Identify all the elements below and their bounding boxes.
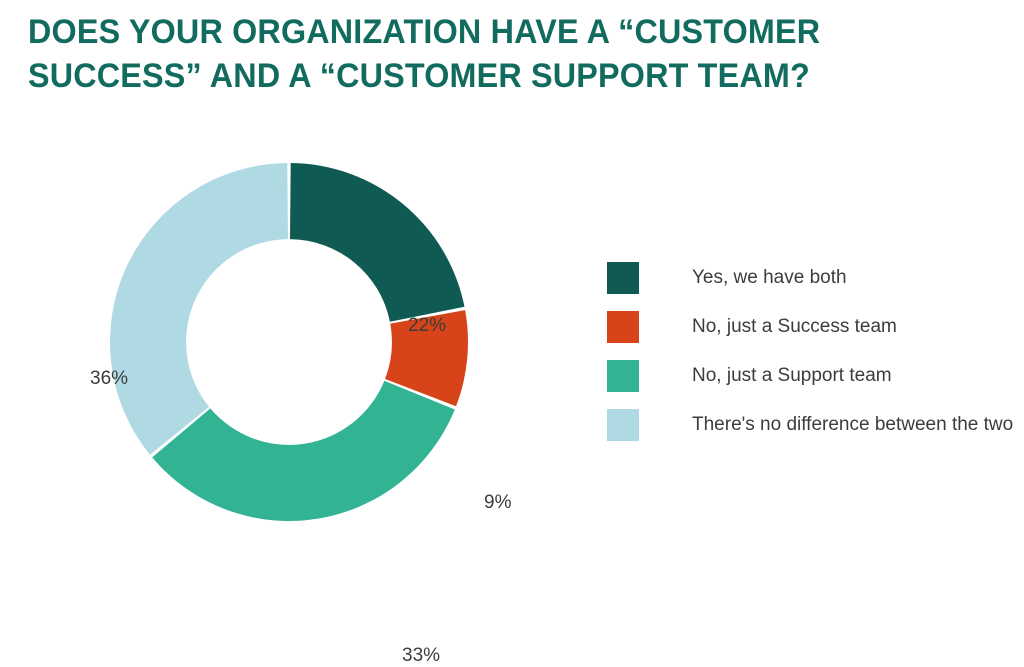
legend-swatch-icon	[607, 409, 639, 441]
donut-segment-group	[110, 163, 468, 521]
segment-value-label-yes-both: 22%	[408, 315, 446, 337]
legend-item-yes-both: Yes, we have both	[607, 253, 1007, 302]
chart-legend: Yes, we have both No, just a Success tea…	[607, 253, 1007, 449]
legend-swatch-icon	[607, 262, 639, 294]
segment-value-label-success-only: 9%	[484, 492, 511, 514]
segment-value-label-support-only: 33%	[402, 645, 440, 667]
legend-swatch-icon	[607, 311, 639, 343]
legend-item-no-difference: There's no difference between the two	[607, 400, 1007, 449]
legend-item-label: No, just a Success team	[692, 316, 897, 338]
legend-item-label: Yes, we have both	[692, 267, 847, 289]
legend-item-support-only: No, just a Support team	[607, 351, 1007, 400]
legend-swatch-icon	[607, 360, 639, 392]
donut-segment	[110, 163, 288, 455]
donut-segment	[290, 163, 465, 322]
segment-value-label-no-difference: 36%	[90, 368, 128, 390]
legend-item-success-only: No, just a Success team	[607, 302, 1007, 351]
donut-chart: 22% 9% 33% 36%	[0, 140, 580, 555]
legend-item-label: No, just a Support team	[692, 365, 892, 387]
page-title: Does your organization have a “customer …	[28, 10, 940, 98]
legend-item-label: There's no difference between the two	[692, 414, 1013, 436]
